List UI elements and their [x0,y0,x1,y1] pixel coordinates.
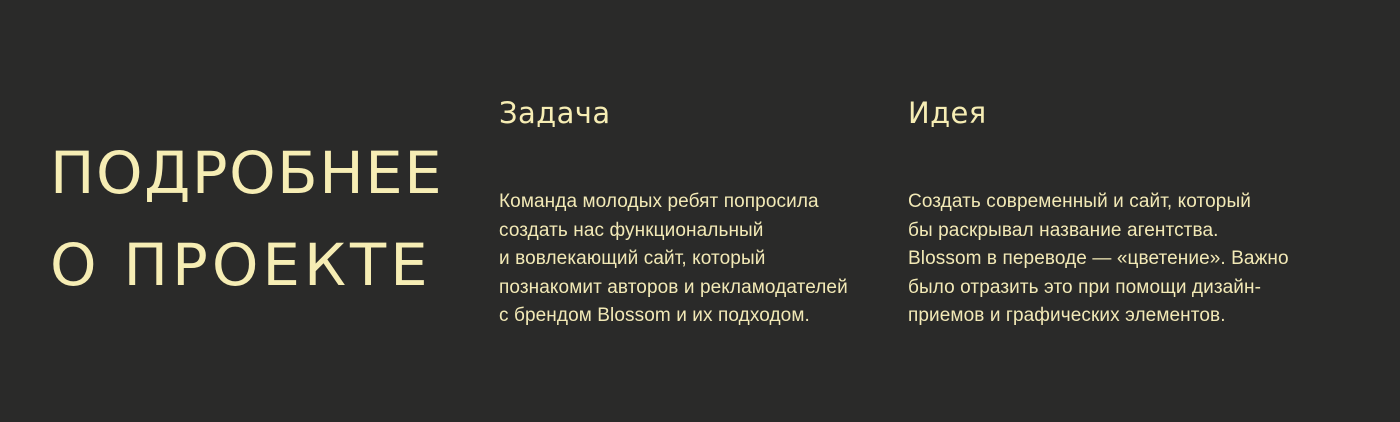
body-line: приемов и графических элементов. [908,302,1308,331]
column-task: Задача Команда молодых ребят попросила с… [499,96,879,331]
body-line: было отразить это при помощи дизайн- [908,274,1308,303]
body-line: Создать современный и сайт, который [908,188,1308,217]
column-idea-body: Создать современный и сайт, который бы р… [908,130,1308,331]
page-title-line-2: О ПРОЕКТЕ [50,219,489,311]
body-line: бы раскрывал название агентства. [908,217,1308,246]
body-line: Blossom в переводе — «цветение». Важно [908,245,1308,274]
column-idea: Идея Создать современный и сайт, который… [908,96,1308,331]
body-line: Команда молодых ребят попросила [499,188,879,217]
column-idea-heading: Идея [908,96,1308,130]
body-line: и вовлекающий сайт, который [499,245,879,274]
body-line: создать нас функциональный [499,217,879,246]
body-line: познакомит авторов и рекламодателей [499,274,879,303]
page-title-line-1: ПОДРОБНЕЕ [50,127,489,219]
column-task-body: Команда молодых ребят попросила создать … [499,130,879,331]
column-task-heading: Задача [499,96,879,130]
page-title: ПОДРОБНЕЕ О ПРОЕКТЕ [50,127,489,311]
body-line: с брендом Blossom и их подходом. [499,302,879,331]
project-details-section: ПОДРОБНЕЕ О ПРОЕКТЕ Задача Команда молод… [0,0,1400,422]
